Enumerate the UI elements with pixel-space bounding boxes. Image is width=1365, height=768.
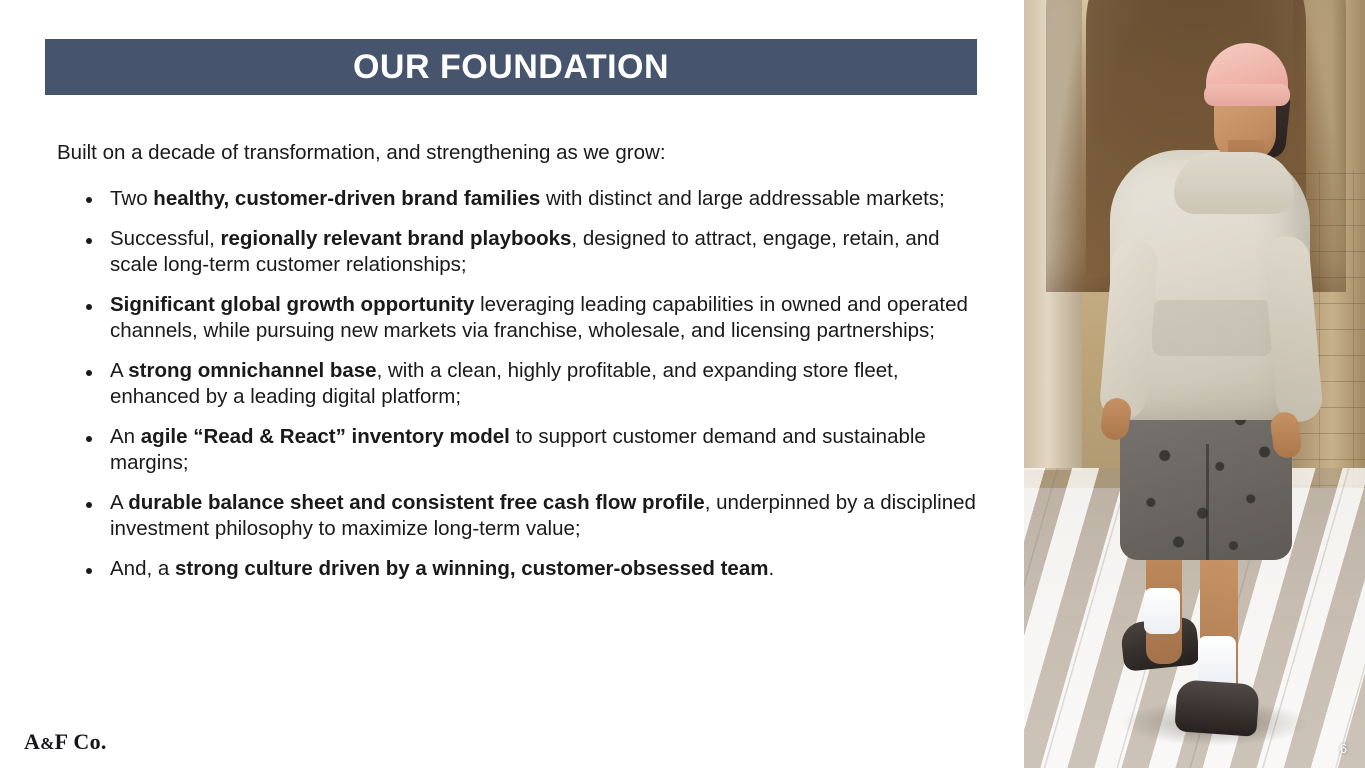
bullet-marker-icon xyxy=(86,197,92,203)
plain-text: A xyxy=(110,491,128,514)
plain-text: Two xyxy=(110,187,153,210)
list-item-text: Two healthy, customer-driven brand famil… xyxy=(110,187,945,210)
presentation-slide: OUR FOUNDATION Built on a decade of tran… xyxy=(0,0,1365,768)
hood xyxy=(1174,152,1294,214)
emphasis-text: durable balance sheet and consistent fre… xyxy=(128,491,704,514)
bullet-marker-icon xyxy=(86,568,92,574)
plain-text: . xyxy=(768,557,774,580)
bullet-marker-icon xyxy=(86,370,92,376)
plain-text: Successful, xyxy=(110,227,221,250)
plain-text: An xyxy=(110,425,141,448)
slide-content-column: OUR FOUNDATION Built on a decade of tran… xyxy=(0,0,1024,768)
bullet-list: Two healthy, customer-driven brand famil… xyxy=(75,186,985,582)
slide-title-bar: OUR FOUNDATION xyxy=(45,39,977,95)
hero-photograph: 6 xyxy=(1024,0,1365,768)
emphasis-text: agile “Read & React” inventory model xyxy=(141,425,510,448)
list-item: Significant global growth opportunity le… xyxy=(75,292,985,344)
shorts-center-seam xyxy=(1206,444,1209,560)
plain-text: A xyxy=(110,359,128,382)
emphasis-text: strong culture driven by a winning, cust… xyxy=(175,557,769,580)
list-item: Two healthy, customer-driven brand famil… xyxy=(75,186,985,212)
list-item-text: And, a strong culture driven by a winnin… xyxy=(110,557,774,580)
shoe-right-icon xyxy=(1174,679,1259,737)
plain-text: with distinct and large addressable mark… xyxy=(540,187,945,210)
logo-text-after: F Co. xyxy=(55,729,107,754)
emphasis-text: healthy, customer-driven brand families xyxy=(153,187,540,210)
list-item-text: A durable balance sheet and consistent f… xyxy=(110,491,976,540)
beanie-brim xyxy=(1204,84,1290,106)
sock-left-icon xyxy=(1144,588,1180,634)
emphasis-text: regionally relevant brand playbooks xyxy=(221,227,572,250)
hoodie-pocket xyxy=(1152,300,1272,356)
list-item-text: Successful, regionally relevant brand pl… xyxy=(110,227,940,276)
company-logo: A&F Co. xyxy=(24,729,107,755)
list-item: A durable balance sheet and consistent f… xyxy=(75,490,985,542)
model-figure xyxy=(1024,0,1365,768)
page-title: OUR FOUNDATION xyxy=(353,50,669,84)
list-item: Successful, regionally relevant brand pl… xyxy=(75,226,985,278)
list-item-text: Significant global growth opportunity le… xyxy=(110,293,968,342)
logo-text-before: A xyxy=(24,729,40,754)
logo-ampersand: & xyxy=(40,734,54,753)
page-number: 6 xyxy=(1340,741,1347,756)
emphasis-text: Significant global growth opportunity xyxy=(110,293,474,316)
intro-paragraph: Built on a decade of transformation, and… xyxy=(57,140,957,166)
bullet-marker-icon xyxy=(86,502,92,508)
bullet-marker-icon xyxy=(86,304,92,310)
list-item-text: A strong omnichannel base, with a clean,… xyxy=(110,359,899,408)
list-item: A strong omnichannel base, with a clean,… xyxy=(75,358,985,410)
bullet-marker-icon xyxy=(86,238,92,244)
list-item: An agile “Read & React” inventory model … xyxy=(75,424,985,476)
emphasis-text: strong omnichannel base xyxy=(128,359,376,382)
bullet-marker-icon xyxy=(86,436,92,442)
list-item-text: An agile “Read & React” inventory model … xyxy=(110,425,926,474)
list-item: And, a strong culture driven by a winnin… xyxy=(75,556,985,582)
plain-text: And, a xyxy=(110,557,175,580)
